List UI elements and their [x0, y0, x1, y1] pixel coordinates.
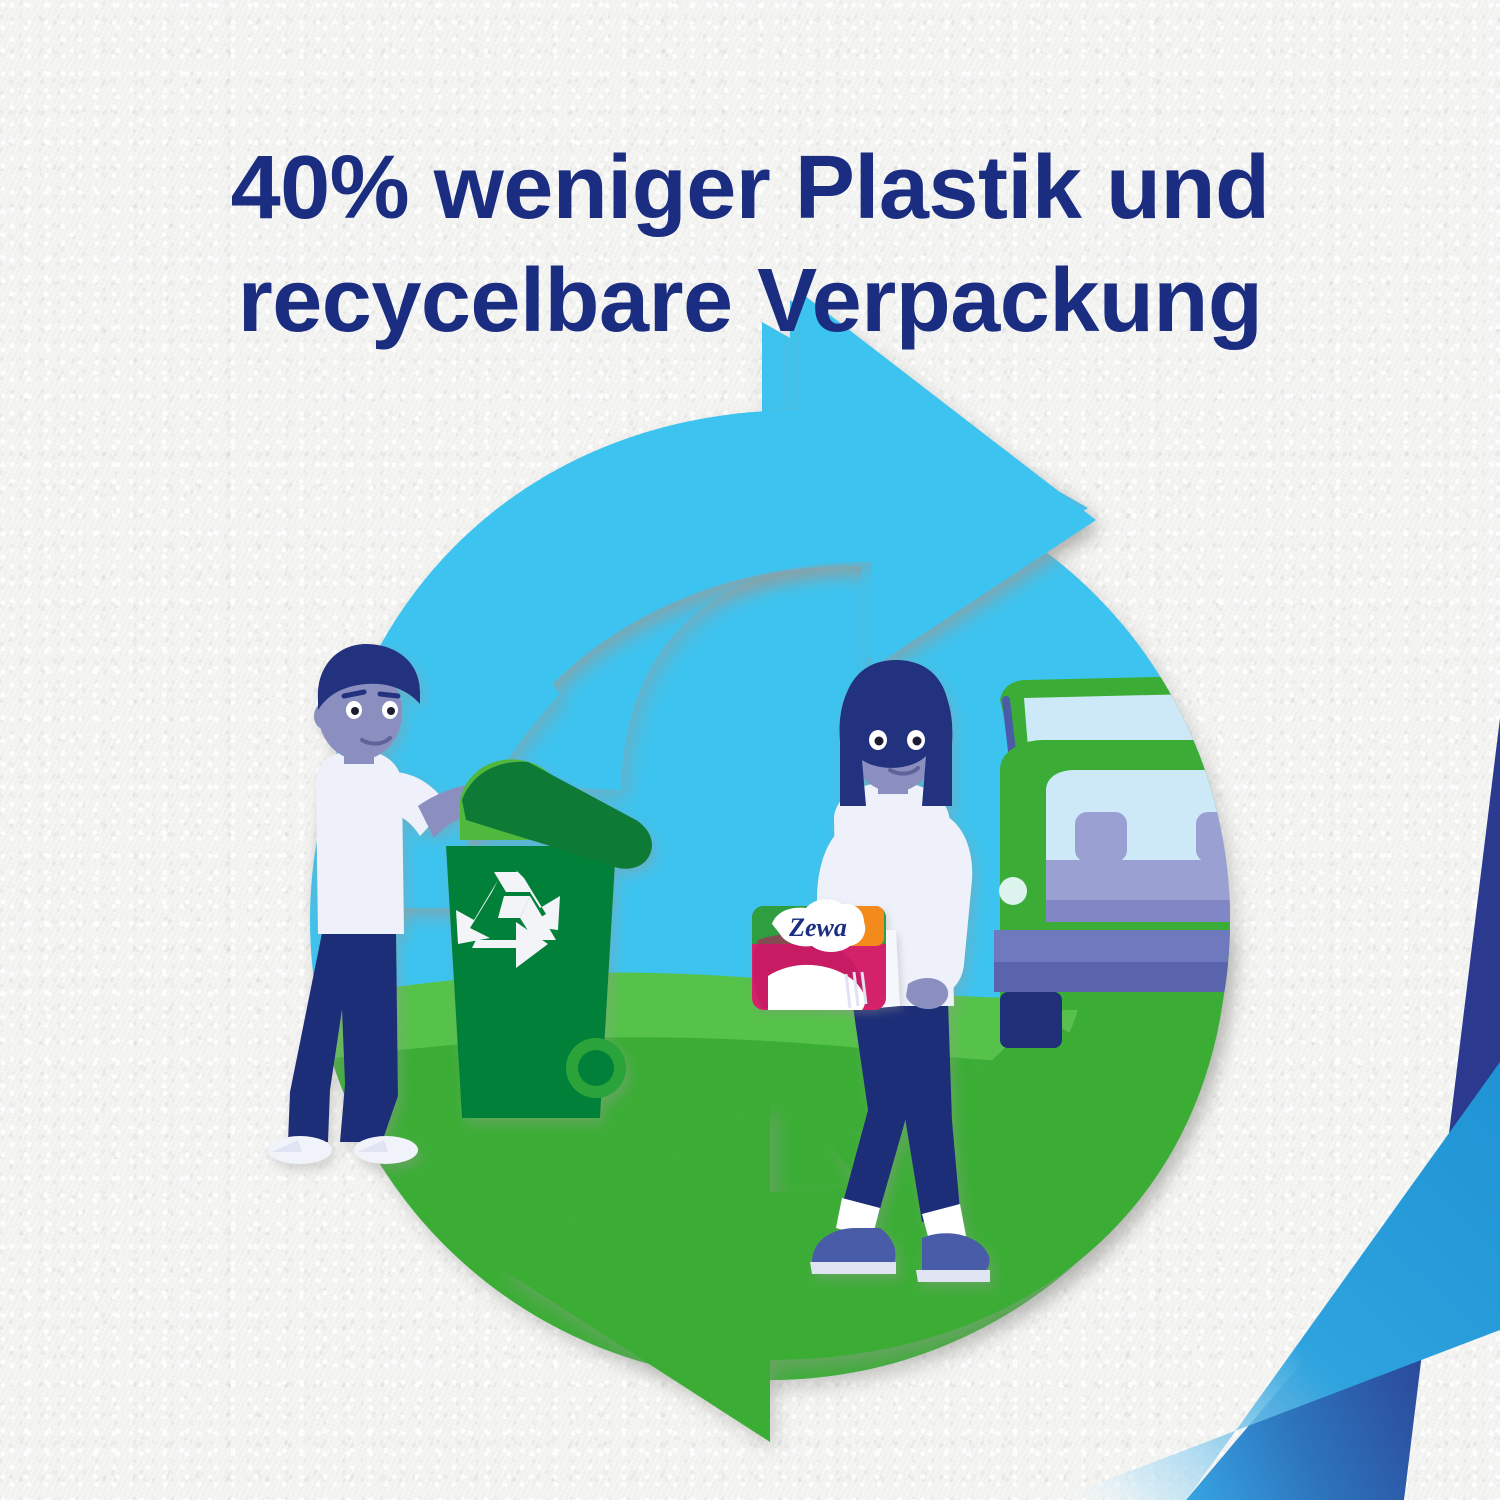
headline-line-1: 40% weniger Plastik und	[110, 132, 1390, 245]
car-boot-glass	[1024, 694, 1200, 748]
car-headrest-right	[1196, 812, 1248, 862]
pack-brand-text: Zewa	[788, 913, 847, 942]
car-headrest-left	[1075, 812, 1127, 862]
headline-line-2: recycelbare Verpackung	[110, 245, 1390, 358]
car-figure	[994, 676, 1300, 1048]
car-tail-light	[999, 877, 1027, 905]
car-lower-block	[1000, 992, 1062, 1048]
boy-shirt	[316, 750, 404, 934]
zewa-tissue-pack: Zewa	[752, 899, 900, 1010]
page-title: 40% weniger Plastik und recycelbare Verp…	[0, 132, 1500, 357]
